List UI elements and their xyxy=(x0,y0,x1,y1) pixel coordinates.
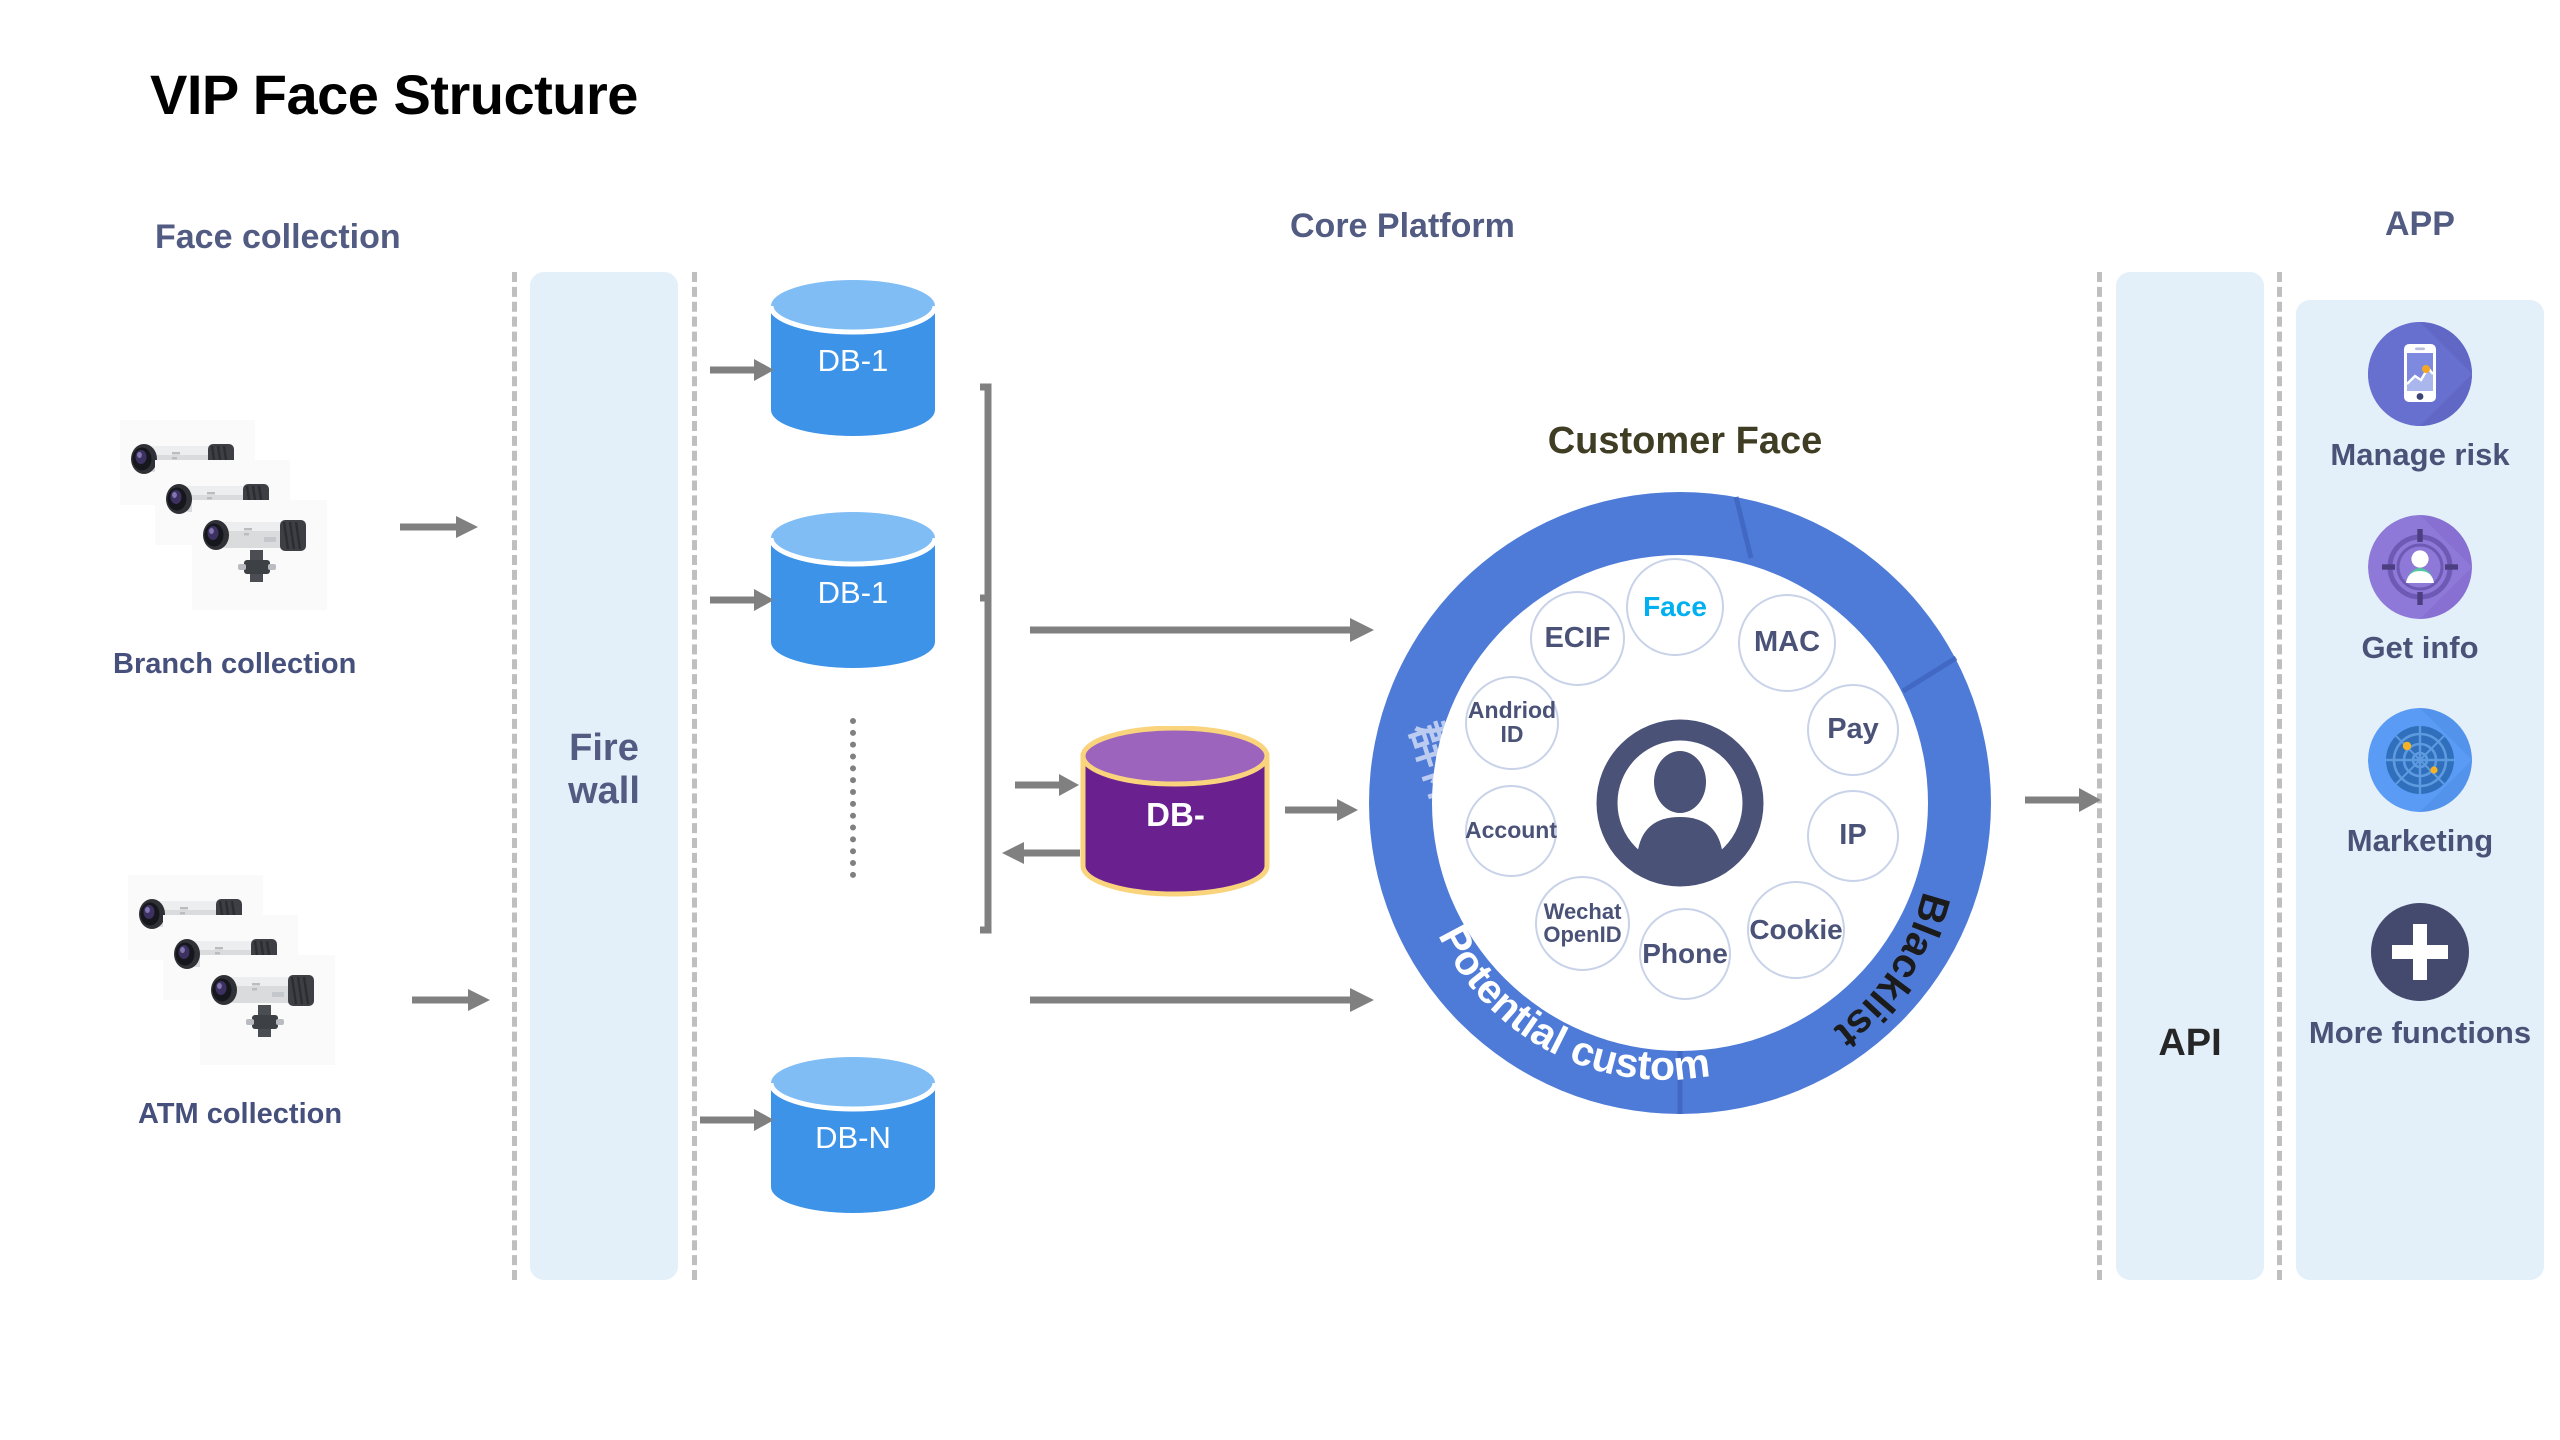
atm-collection-label: ATM collection xyxy=(138,1098,342,1131)
customer-face-donut: 群体识别方 Stock customer Blacklist Potential… xyxy=(1355,478,2005,1128)
attribute-bubble-andriod-id[interactable]: Andriod ID xyxy=(1465,676,1559,770)
app-feature-manage-risk[interactable]: Manage risk xyxy=(2296,322,2544,473)
branch-collection-label: Branch collection xyxy=(113,648,356,681)
arrow-firewall-to-db2 xyxy=(710,585,776,615)
api-label: API xyxy=(2116,1022,2264,1065)
lane-divider-2 xyxy=(692,272,697,1280)
app-feature-label: Get info xyxy=(2296,629,2544,666)
arrow-db-bus-to-platform-lower xyxy=(1030,985,1375,1015)
attribute-bubble-ecif[interactable]: ECIF xyxy=(1530,591,1625,686)
attribute-bubble-pay[interactable]: Pay xyxy=(1807,684,1899,776)
security-camera-icon xyxy=(192,500,327,610)
mobile-chart-icon xyxy=(2368,322,2472,426)
database-ellipsis xyxy=(850,718,856,878)
central-database-label: DB- xyxy=(1078,796,1273,834)
donut-title: Customer Face xyxy=(1525,420,1845,463)
app-feature-marketing[interactable]: Marketing xyxy=(2296,708,2544,859)
app-feature-label: Marketing xyxy=(2296,822,2544,859)
database-cylinder[interactable]: DB-N xyxy=(768,1055,938,1215)
arrow-return-from-central-db xyxy=(1000,838,1080,868)
attribute-bubble-ip[interactable]: IP xyxy=(1807,790,1899,882)
branch-camera-stack xyxy=(120,420,350,570)
arrow-firewall-to-dbn xyxy=(700,1105,776,1135)
security-camera-icon xyxy=(200,955,335,1065)
lane-divider-3 xyxy=(2097,272,2102,1280)
database-label: DB-1 xyxy=(768,343,938,379)
arrow-firewall-to-db1 xyxy=(710,355,776,385)
api-lane: API xyxy=(2116,272,2264,1280)
central-database-cylinder[interactable]: DB- xyxy=(1078,726,1273,901)
attribute-bubble-account[interactable]: Account xyxy=(1465,785,1557,877)
attribute-bubble-cookie[interactable]: Cookie xyxy=(1747,881,1845,979)
lane-divider-1 xyxy=(512,272,517,1280)
database-cylinder[interactable]: DB-1 xyxy=(768,278,938,438)
plus-icon xyxy=(2368,900,2472,1004)
section-header-face-collection: Face collection xyxy=(155,218,401,257)
arrow-branch-to-firewall xyxy=(400,512,480,542)
atm-camera-stack xyxy=(128,875,358,1025)
attribute-bubble-phone[interactable]: Phone xyxy=(1639,908,1731,1000)
lane-divider-4 xyxy=(2277,272,2282,1280)
arrow-db-bus-to-platform-upper xyxy=(1030,615,1375,645)
app-feature-label: More functions xyxy=(2296,1014,2544,1051)
radar-icon xyxy=(2368,708,2472,812)
firewall-lane: Fire wall xyxy=(530,272,678,1280)
arrow-atm-to-firewall xyxy=(412,985,492,1015)
database-cylinder[interactable]: DB-1 xyxy=(768,510,938,670)
target-people-icon xyxy=(2368,515,2472,619)
database-label: DB-N xyxy=(768,1120,938,1156)
app-lane: Manage risk Get info xyxy=(2296,300,2544,1280)
firewall-label: Fire wall xyxy=(530,727,678,812)
app-feature-label: Manage risk xyxy=(2296,436,2544,473)
section-header-core-platform: Core Platform xyxy=(1290,207,1515,246)
arrow-central-db-to-platform xyxy=(1285,795,1360,825)
database-label: DB-1 xyxy=(768,575,938,611)
attribute-bubble-wechat-openid[interactable]: Wechat OpenID xyxy=(1535,876,1630,971)
attribute-bubble-mac[interactable]: MAC xyxy=(1738,594,1836,692)
page-title: VIP Face Structure xyxy=(150,62,638,127)
attribute-bubble-face[interactable]: Face xyxy=(1626,558,1724,656)
diagram-canvas: VIP Face Structure Face collection Core … xyxy=(0,0,2560,1440)
app-feature-get-info[interactable]: Get info xyxy=(2296,515,2544,666)
section-header-app: APP xyxy=(2385,205,2455,244)
arrow-platform-to-api xyxy=(2025,785,2103,815)
arrow-into-central-db xyxy=(1015,770,1081,800)
app-feature-more-functions[interactable]: More functions xyxy=(2296,900,2544,1051)
